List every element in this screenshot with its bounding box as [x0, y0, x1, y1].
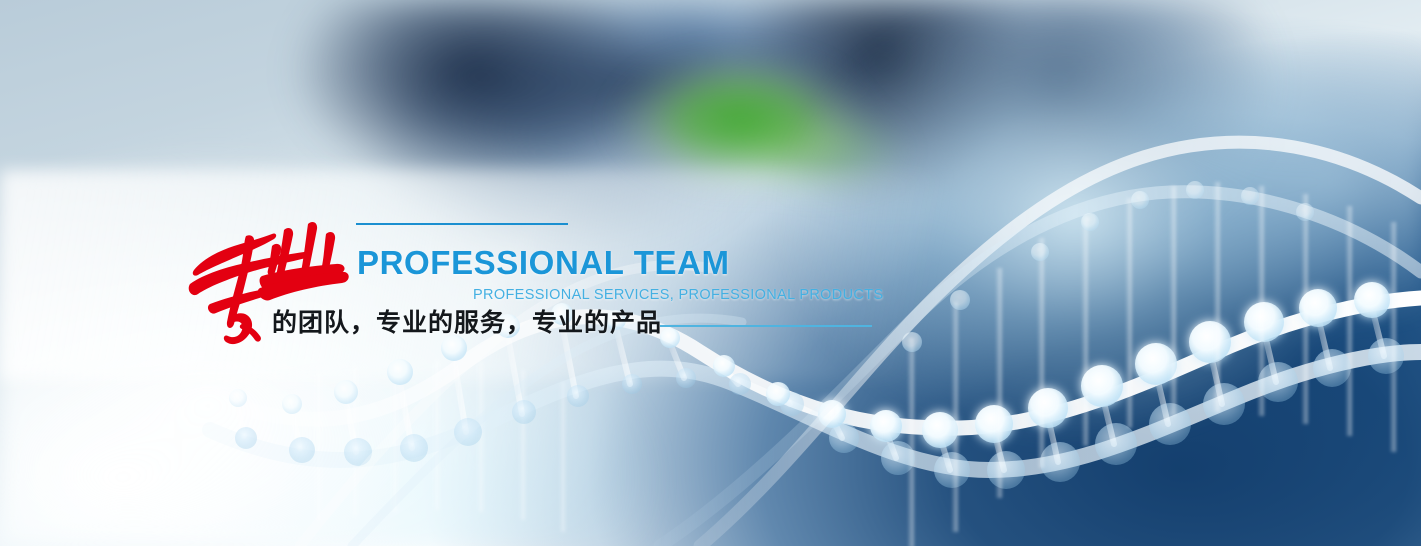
hero-banner: PROFESSIONAL TEAM PROFESSIONAL SERVICES,…: [0, 0, 1421, 546]
dna-helix-graphic: [0, 0, 1421, 546]
